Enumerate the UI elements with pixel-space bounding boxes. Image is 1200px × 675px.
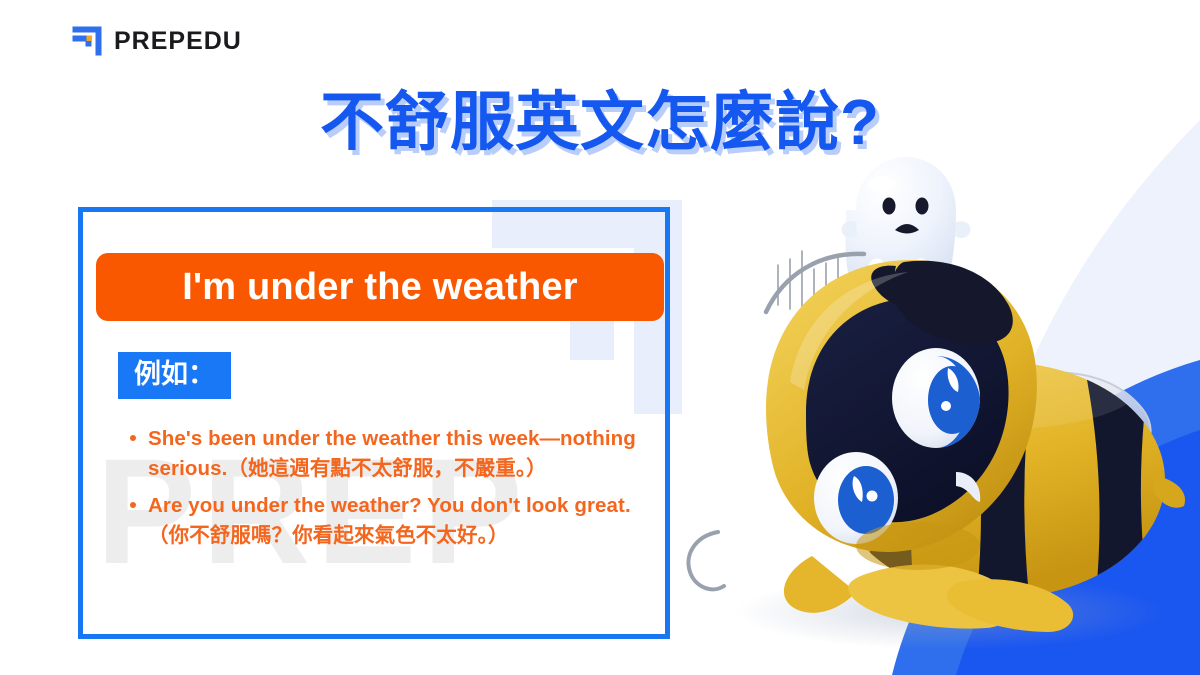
page-title: 不舒服英文怎麼說? (0, 86, 1200, 160)
brand-logo[interactable]: PREPEDU (70, 24, 242, 58)
example-text: She's been under the weather this week—n… (148, 427, 636, 480)
list-item: She's been under the weather this week—n… (126, 424, 654, 485)
bullet-dot-icon (130, 435, 136, 441)
brand-name: PREPEDU (114, 27, 242, 56)
bee-eye-upper (892, 348, 980, 448)
bee-antenna-left (688, 532, 724, 589)
prepedu-logo-mark-icon (70, 24, 104, 58)
example-text: Are you under the weather? You don't loo… (148, 494, 631, 547)
example-label: 例如： (118, 352, 231, 399)
sad-bee-illustration (660, 150, 1200, 675)
phrase-pill-label: I'm under the weather (182, 266, 577, 309)
phrase-pill: I'm under the weather (96, 253, 664, 321)
list-item: Are you under the weather? You don't loo… (126, 491, 654, 552)
slide-canvas: PREP PREPEDU 不舒服英文怎麼說? I'm under the wea… (0, 0, 1200, 675)
bullet-dot-icon (130, 502, 136, 508)
example-list: She's been under the weather this week—n… (126, 424, 654, 557)
